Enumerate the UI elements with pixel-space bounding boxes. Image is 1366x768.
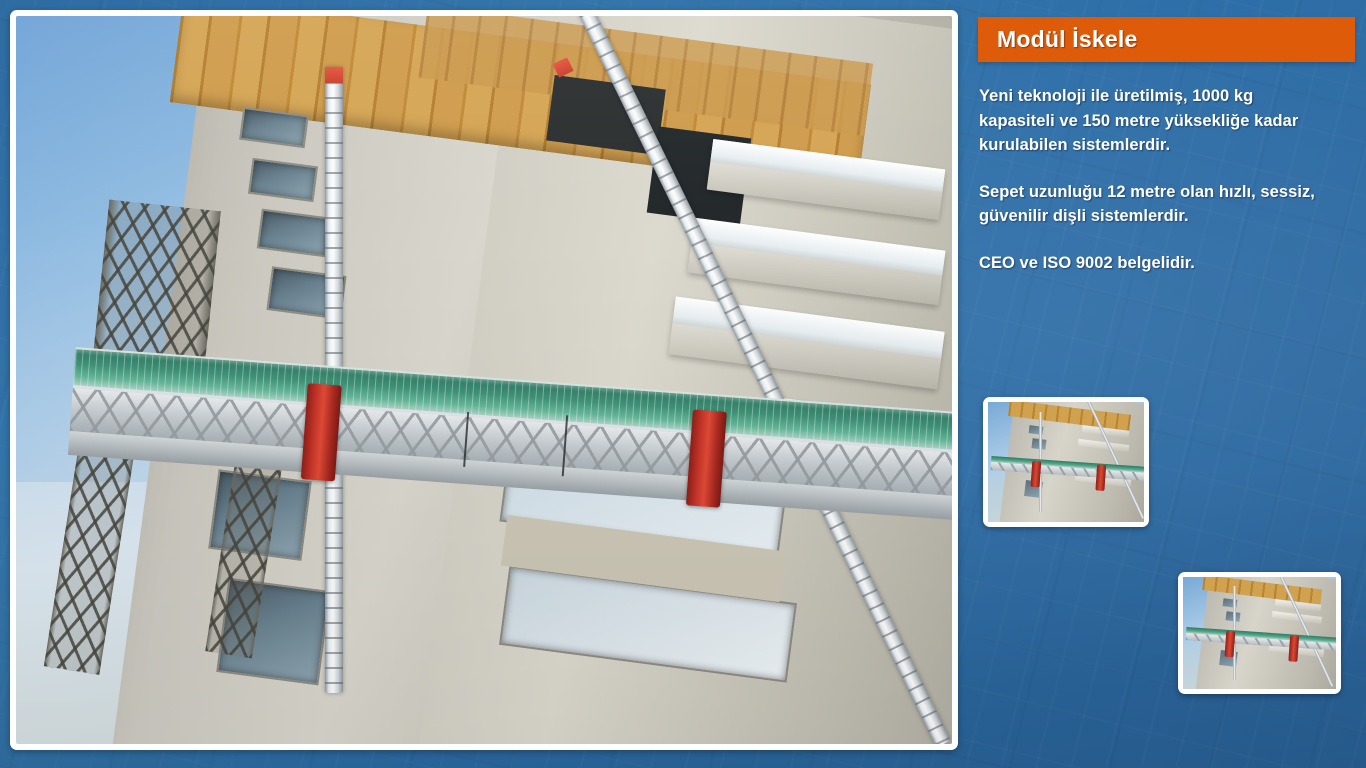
hoist-unit-left — [301, 383, 342, 481]
main-photo-frame[interactable] — [10, 10, 958, 750]
thumb2-hoist-left — [1224, 632, 1235, 659]
thumbnail-1-image — [988, 402, 1144, 522]
main-photo — [16, 16, 952, 744]
thumbnail-2-image — [1183, 577, 1336, 689]
description-paragraph-3: CEO ve ISO 9002 belgelidir. — [979, 251, 1331, 276]
window-slot-3 — [257, 208, 332, 257]
info-panel: Modül İskele Yeni teknoloji ile üretilmi… — [960, 0, 1366, 768]
panel-title-bar: Modül İskele — [978, 17, 1355, 62]
thumbnail-1[interactable] — [983, 397, 1149, 527]
panel-description: Yeni teknoloji ile üretilmiş, 1000 kg ka… — [979, 84, 1331, 275]
page-title: Modül İskele — [997, 26, 1137, 53]
page-root: Modül İskele Yeni teknoloji ile üretilmi… — [0, 0, 1366, 768]
description-paragraph-2: Sepet uzunluğu 12 metre olan hızlı, sess… — [979, 180, 1331, 229]
mast-tip-marker — [325, 67, 343, 83]
description-paragraph-1: Yeni teknoloji ile üretilmiş, 1000 kg ka… — [979, 84, 1331, 158]
thumbnail-2[interactable] — [1178, 572, 1341, 694]
hoist-unit-right — [686, 410, 727, 508]
window-slot-2 — [248, 157, 318, 202]
